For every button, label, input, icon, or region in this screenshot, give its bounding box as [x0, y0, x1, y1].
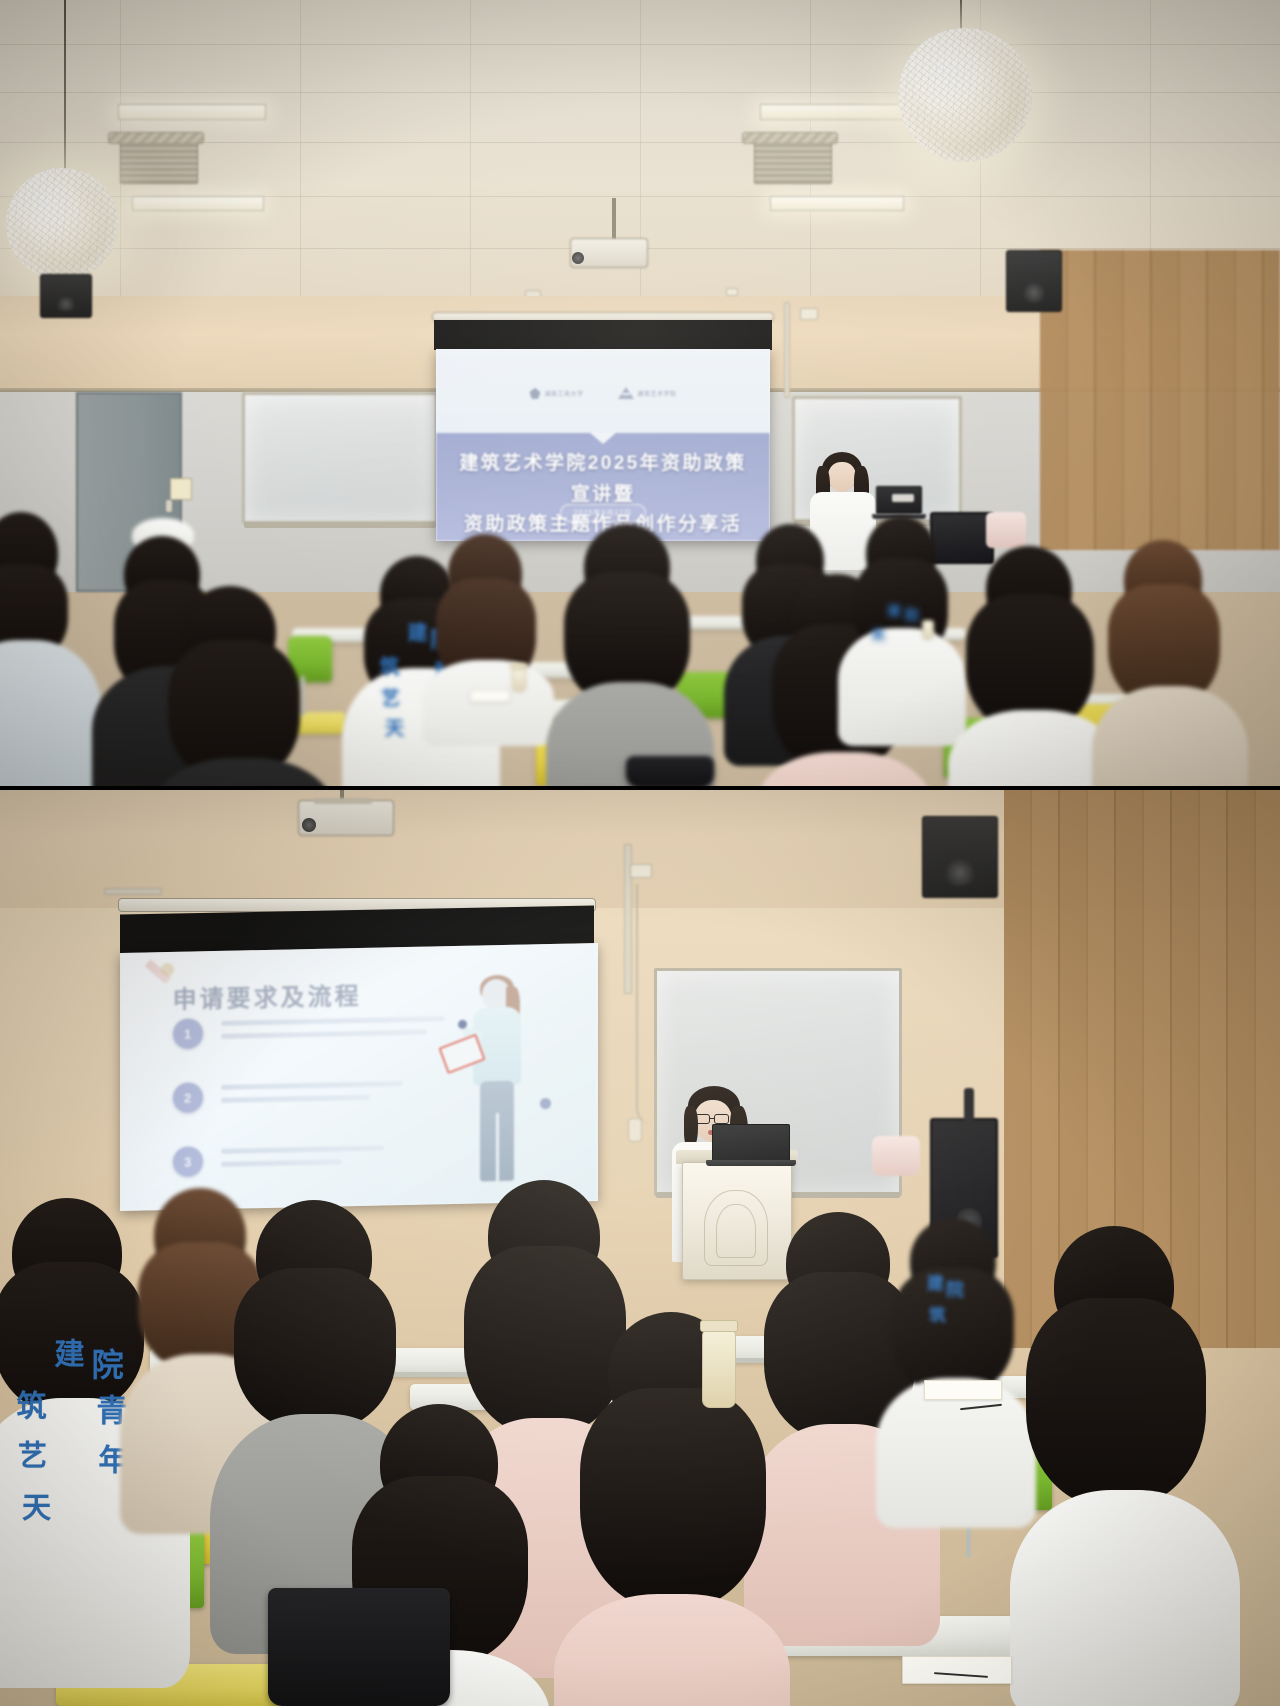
tumbler-bottom [702, 1330, 736, 1408]
circle-decoration-icon [161, 963, 174, 976]
tshirt-char-tian: 天 [382, 718, 402, 737]
wall-speaker-left [40, 274, 92, 318]
college-logo: 建筑艺术学院 [618, 387, 677, 399]
slide-title: 湖南工商大学 建筑艺术学院 建筑艺术学院2025年资助政策宣讲暨 资助政策主题作… [436, 349, 770, 541]
cup-top [922, 620, 934, 640]
college-logo-label: 建筑艺术学院 [638, 389, 677, 398]
door-sign [170, 478, 192, 500]
illustration-dot [540, 1098, 551, 1109]
projector-mount [612, 198, 616, 240]
college-logo-mark [618, 387, 634, 399]
tshirt-char-jian: 建 [924, 1274, 942, 1291]
tshirt-char-tian: 天 [18, 1492, 48, 1521]
slide-title-text: 建筑艺术学院2025年资助政策宣讲暨 资助政策主题作品创作分享活动 [456, 449, 750, 541]
step-text-lines [221, 1013, 455, 1047]
slide-logo-row: 湖南工商大学 建筑艺术学院 [436, 387, 770, 399]
door-handle[interactable] [166, 500, 172, 512]
handbag-bottom [268, 1588, 450, 1706]
slide-step-item: 1 [173, 1013, 455, 1049]
illustration-dot [458, 1019, 467, 1028]
projector-lens [572, 252, 584, 264]
projector-bracket [314, 798, 372, 804]
wall-conduit [784, 302, 790, 398]
ac-diffuser [742, 132, 838, 144]
step-text-lines [221, 1077, 455, 1111]
panel-bottom-requirements-slide: 申请要求及流程 1 2 [0, 788, 1280, 1706]
tshirt-char-yuan: 院 [902, 608, 917, 622]
ac-diffuser [108, 132, 204, 144]
wall-socket-box-bottom [630, 864, 652, 878]
wall-socket-box [800, 308, 818, 320]
cable-end-connector [628, 1118, 642, 1142]
cup-top [512, 668, 526, 692]
hanging-cable [636, 884, 652, 1124]
tshirt-char-jian: 建 [404, 622, 425, 642]
wall-socket-box [726, 288, 738, 296]
projector-screen-bottom: 申请要求及流程 1 2 [120, 943, 598, 1211]
photo-composite: 湖南工商大学 建筑艺术学院 建筑艺术学院2025年资助政策宣讲暨 资助政策主题作… [0, 0, 1280, 1706]
ceiling-light-panel [132, 196, 264, 211]
tshirt-char-yi: 艺 [14, 1440, 44, 1469]
worksheet-bottom [902, 1656, 1012, 1684]
slide-requirements-title: 申请要求及流程 [173, 976, 362, 1015]
ceiling-light-panel [770, 196, 904, 211]
step-text-lines [221, 1141, 455, 1175]
slide-step-item: 3 [173, 1141, 455, 1177]
wall-conduit-bottom [104, 888, 162, 895]
slide-notch-decoration [589, 432, 617, 444]
slide-title-line-1: 建筑艺术学院2025年资助政策宣讲暨 [456, 449, 750, 511]
ceiling-air-vent [754, 140, 832, 184]
tshirt-char-zhu: 筑 [12, 1390, 44, 1420]
tshirt-char-yuan: 院 [944, 1280, 963, 1298]
whiteboard-left [242, 392, 438, 524]
slide-step-item: 2 [173, 1077, 455, 1113]
whiteboard-tray [244, 522, 436, 528]
tshirt-char-yi: 艺 [378, 688, 398, 707]
tshirt-char-zhu: 筑 [870, 628, 884, 641]
handbag-top [626, 756, 714, 788]
university-logo-label: 湖南工商大学 [544, 389, 583, 398]
tshirt-char-jian: 建 [886, 604, 900, 617]
wall-object-bottom [872, 1136, 920, 1176]
worksheet-bottom [924, 1380, 1002, 1400]
glasses-right-lens [714, 1114, 729, 1124]
tshirt-char-zhu: 筑 [926, 1306, 944, 1323]
mic-stand-bottom [964, 1088, 974, 1122]
wall-speaker-right [1006, 250, 1062, 312]
ceiling-light-panel [760, 104, 910, 120]
panel-seam-divider [0, 786, 1280, 790]
presenter-face [828, 462, 856, 492]
step-number-badge: 1 [173, 1018, 203, 1049]
laptop-screen-bottom[interactable] [712, 1124, 790, 1162]
wall-poster-top [986, 512, 1026, 548]
pendant-lamp-cord [64, 0, 66, 170]
slide-illustration-person [440, 971, 560, 1189]
pendant-lamp-cord [960, 0, 962, 30]
display-monitor-top[interactable] [930, 512, 994, 564]
laptop-base-bottom [706, 1160, 796, 1166]
step-number-badge: 3 [173, 1146, 203, 1177]
chair-leg [300, 676, 305, 716]
tshirt-char-zhu: 筑 [376, 656, 397, 676]
wood-wall-panel [1040, 250, 1280, 550]
tshirt-char-jian: 建 [50, 1338, 82, 1368]
tumbler-lid-bottom [700, 1320, 738, 1332]
panel-top-title-slide: 湖南工商大学 建筑艺术学院 建筑艺术学院2025年资助政策宣讲暨 资助政策主题作… [0, 0, 1280, 788]
paper-top [470, 690, 510, 702]
wall-speaker-bottom [922, 816, 998, 898]
podium-ornament [716, 1204, 756, 1258]
slide-requirements: 申请要求及流程 1 2 [120, 943, 598, 1211]
illustration-leg-split [496, 1113, 499, 1181]
projector-lens-bottom [302, 818, 316, 832]
slide-steps-list: 1 2 3 [173, 1013, 455, 1211]
projector-screen-black-bar [434, 320, 772, 350]
tshirt-char-yuan: 院 [88, 1348, 122, 1380]
university-logo-mark [529, 388, 540, 399]
cup-lid-top [510, 663, 528, 669]
projector-screen-top: 湖南工商大学 建筑艺术学院 建筑艺术学院2025年资助政策宣讲暨 资助政策主题作… [436, 349, 770, 541]
pendant-lamp-right [898, 28, 1032, 162]
ceiling-air-vent [120, 140, 198, 184]
step-number-badge: 2 [173, 1082, 203, 1113]
pendant-lamp-left [6, 168, 118, 280]
tshirt-char-qing: 青 [92, 1394, 125, 1425]
university-logo: 湖南工商大学 [529, 388, 583, 399]
slide-date-badge: 2025年9月27日 [560, 504, 646, 522]
glasses-bridge [710, 1118, 714, 1119]
ceiling-light-panel [118, 104, 266, 120]
podium-ledge-top [892, 494, 914, 502]
slide-date-row: 2025年9月27日 [436, 504, 770, 522]
